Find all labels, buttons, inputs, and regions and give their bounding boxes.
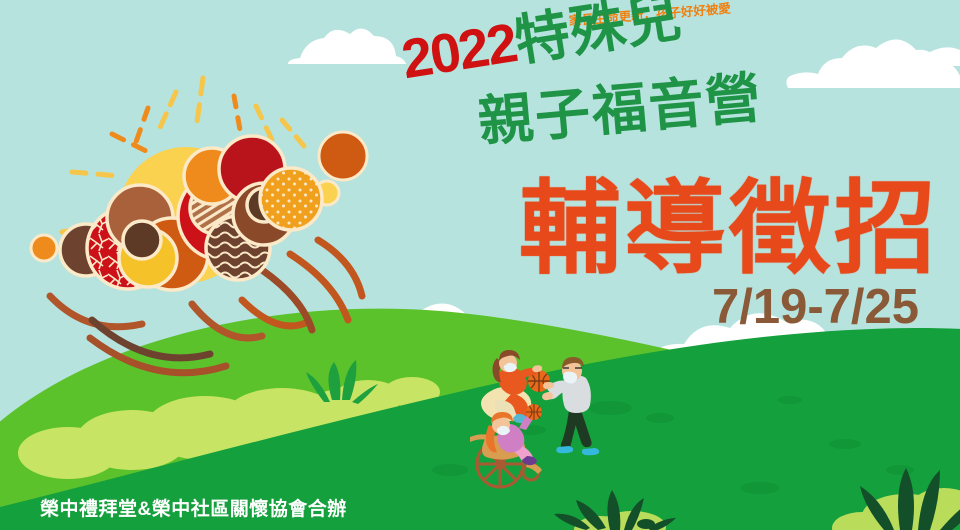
boy-shoe-right bbox=[582, 448, 599, 455]
boy-leg-right bbox=[572, 410, 592, 447]
headline-block: 2022特殊兒 親子福音營 bbox=[398, 33, 818, 158]
poster-canvas: 家長生命更新，孩子好好被愛 2022特殊兒 親子福音營 輔導徵招 7/19-7/… bbox=[0, 0, 960, 530]
headline-line-1-cn: 特殊兒 bbox=[510, 0, 686, 72]
boy-standing bbox=[542, 357, 599, 455]
basketball-held bbox=[526, 404, 542, 420]
headline-line-2: 親子福音營 bbox=[476, 70, 765, 150]
boy-shoe-left bbox=[556, 446, 573, 453]
host-credit: 榮中禮拜堂&榮中社區關懷協會合辦 bbox=[40, 500, 347, 519]
date-range: 7/19-7/25 bbox=[712, 283, 919, 332]
girl-in-wheelchair bbox=[470, 404, 542, 487]
main-title: 輔導徵招 bbox=[519, 178, 939, 280]
